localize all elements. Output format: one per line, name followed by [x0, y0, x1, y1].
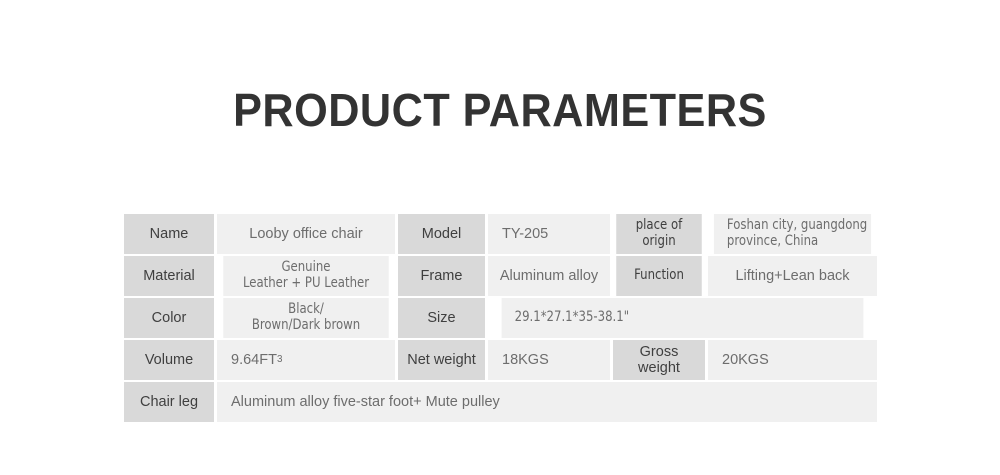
volume-number: 9.64FT	[231, 352, 277, 368]
cell-label-color: Color	[124, 298, 214, 338]
cell-value-material: Genuine Leather + PU Leather	[223, 256, 389, 296]
cell-label-net-weight: Net weight	[398, 340, 485, 380]
cell-label-material: Material	[124, 256, 214, 296]
cell-label-size: Size	[398, 298, 485, 338]
cell-value-net-weight: 18KGS	[488, 340, 610, 380]
cell-label-place-of-origin: place of origin	[616, 214, 702, 254]
cell-value-gross-weight: 20KGS	[708, 340, 877, 380]
cell-value-color: Black/ Brown/Dark brown	[223, 298, 389, 338]
table-row: Volume 9.64FT3 Net weight 18KGS Gross we…	[124, 340, 877, 380]
cell-label-name: Name	[124, 214, 214, 254]
cell-value-frame: Aluminum alloy	[488, 256, 610, 296]
cell-value-chair-leg: Aluminum alloy five-star foot+ Mute pull…	[217, 382, 877, 422]
cell-value-place-of-origin: Foshan city, guangdong province, China	[714, 214, 871, 254]
table-row: Color Black/ Brown/Dark brown Size 29.1*…	[124, 298, 877, 338]
cell-value-size: 29.1*27.1*35-38.1"	[502, 298, 864, 338]
cell-value-model: TY-205	[488, 214, 610, 254]
cell-value-name: Looby office chair	[217, 214, 395, 254]
table-row: Material Genuine Leather + PU Leather Fr…	[124, 256, 877, 296]
cell-label-gross-weight: Gross weight	[613, 340, 705, 380]
cell-label-chair-leg: Chair leg	[124, 382, 214, 422]
page-title: PRODUCT PARAMETERS	[30, 82, 970, 138]
cell-label-function: Function	[616, 256, 702, 296]
cell-label-volume: Volume	[124, 340, 214, 380]
table-row: Name Looby office chair Model TY-205 pla…	[124, 214, 877, 254]
cell-value-function: Lifting+Lean back	[708, 256, 877, 296]
cell-label-model: Model	[398, 214, 485, 254]
cell-value-volume: 9.64FT3	[217, 340, 395, 380]
table-row: Chair leg Aluminum alloy five-star foot+…	[124, 382, 877, 422]
product-parameters-table: Name Looby office chair Model TY-205 pla…	[124, 214, 877, 425]
cell-label-frame: Frame	[398, 256, 485, 296]
